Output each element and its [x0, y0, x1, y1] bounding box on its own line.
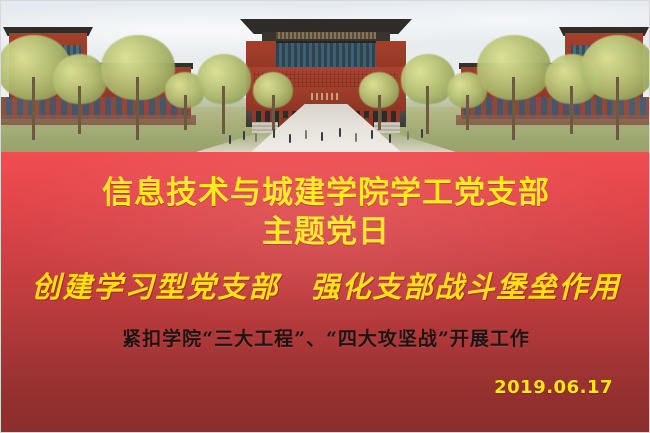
title-line-1: 信息技术与城建学院学工党支部	[1, 174, 650, 213]
tree-trunk	[184, 95, 187, 130]
tree	[581, 35, 650, 140]
tree-trunk	[616, 77, 619, 140]
title-line-2: 主题党日	[1, 213, 650, 252]
presentation-slide: 信息技术与城建学院学工党支部 主题党日 创建学习型党支部 强化支部战斗堡垒作用 …	[0, 0, 650, 433]
tree-trunk	[78, 86, 81, 134]
tree	[253, 72, 293, 130]
tree-trunk	[466, 95, 469, 130]
tree-trunk	[136, 77, 139, 140]
tree-trunk	[512, 77, 515, 140]
tree	[53, 54, 107, 134]
person	[289, 134, 291, 143]
tree-trunk	[32, 77, 35, 140]
person	[229, 135, 231, 144]
tree	[477, 35, 551, 140]
tree-trunk	[570, 86, 573, 134]
date-label: 2019.06.17	[494, 377, 613, 398]
tree	[359, 72, 399, 130]
person	[243, 131, 245, 140]
building-name-sign	[311, 93, 341, 100]
tree	[197, 54, 251, 134]
slogan-text: 创建学习型党支部 强化支部战斗堡垒作用	[1, 270, 650, 304]
person	[305, 130, 307, 139]
main-building-clerestory	[276, 32, 376, 39]
main-title-block: 信息技术与城建学院学工党支部 主题党日	[1, 174, 650, 252]
person	[355, 133, 357, 142]
person	[273, 129, 275, 138]
tree	[101, 35, 175, 140]
subtitle-text: 紧扣学院“三大工程”、“四大攻坚战”开展工作	[1, 327, 650, 351]
person	[421, 129, 423, 138]
main-building-glass-curtain	[276, 41, 376, 69]
person	[255, 133, 257, 142]
person	[407, 131, 409, 140]
person	[339, 128, 341, 137]
person	[371, 130, 373, 139]
campus-photo	[1, 1, 650, 152]
person	[389, 134, 391, 143]
pedestrians-group	[221, 124, 431, 146]
red-title-banner: 信息技术与城建学院学工党支部 主题党日 创建学习型党支部 强化支部战斗堡垒作用 …	[1, 152, 650, 433]
person	[321, 132, 323, 141]
